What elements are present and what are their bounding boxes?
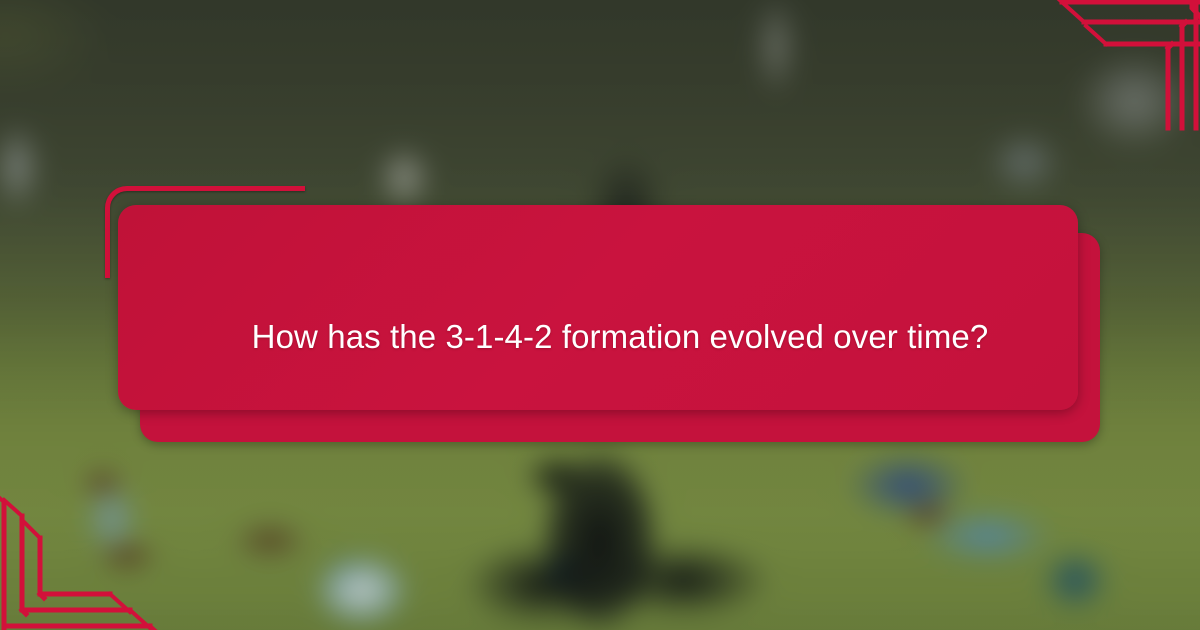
question-card: How has the 3-1-4-2 formation evolved ov… [0,0,1200,630]
screenshot-canvas: How has the 3-1-4-2 formation evolved ov… [0,0,1200,630]
card-text-container: How has the 3-1-4-2 formation evolved ov… [140,233,1100,442]
question-title: How has the 3-1-4-2 formation evolved ov… [252,311,989,363]
